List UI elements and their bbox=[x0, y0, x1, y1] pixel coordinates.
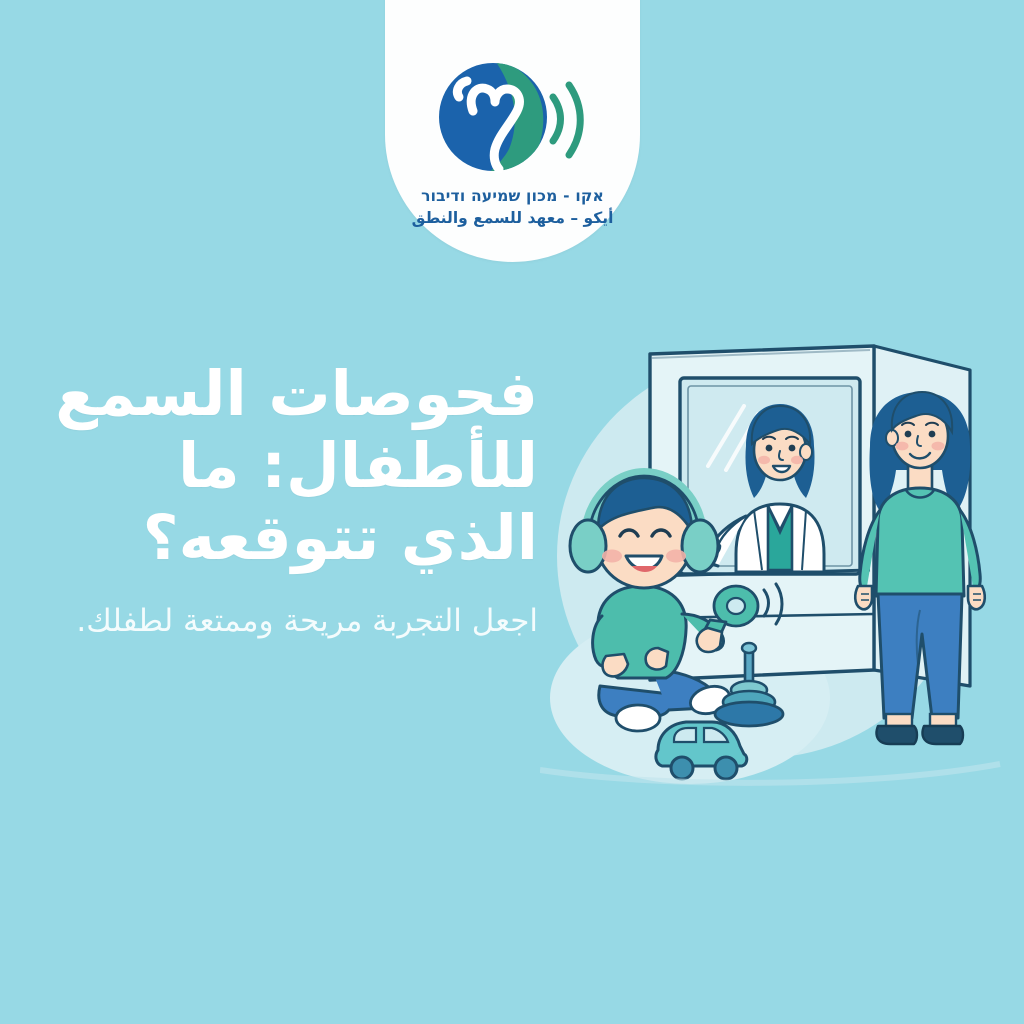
logo-badge: אקו - מכון שמיעה ודיבור أيكو – معهد للسم… bbox=[385, 0, 640, 262]
ear-heart-soundwave-logo bbox=[437, 57, 589, 181]
logo-text-hebrew: אקו - מכון שמיעה ודיבור bbox=[412, 187, 614, 206]
headline-block: فحوصات السمع للأطفال: ما الذي تتوقعه؟ اج… bbox=[40, 358, 538, 642]
page-title: فحوصات السمع للأطفال: ما الذي تتوقعه؟ bbox=[40, 358, 538, 574]
logo-text-arabic: أيكو – معهد للسمع والنطق bbox=[412, 209, 614, 228]
illustration bbox=[540, 318, 1024, 808]
page-subtitle: اجعل التجربة مريحة وممتعة لطفلك. bbox=[40, 600, 538, 642]
poster-canvas: אקו - מכון שמיעה ודיבור أيكو – معهد للسم… bbox=[0, 0, 1024, 1024]
pediatric-hearing-test-scene bbox=[540, 318, 1024, 808]
logo-text: אקו - מכון שמיעה ודיבור أيكو – معهد للسم… bbox=[412, 187, 614, 228]
